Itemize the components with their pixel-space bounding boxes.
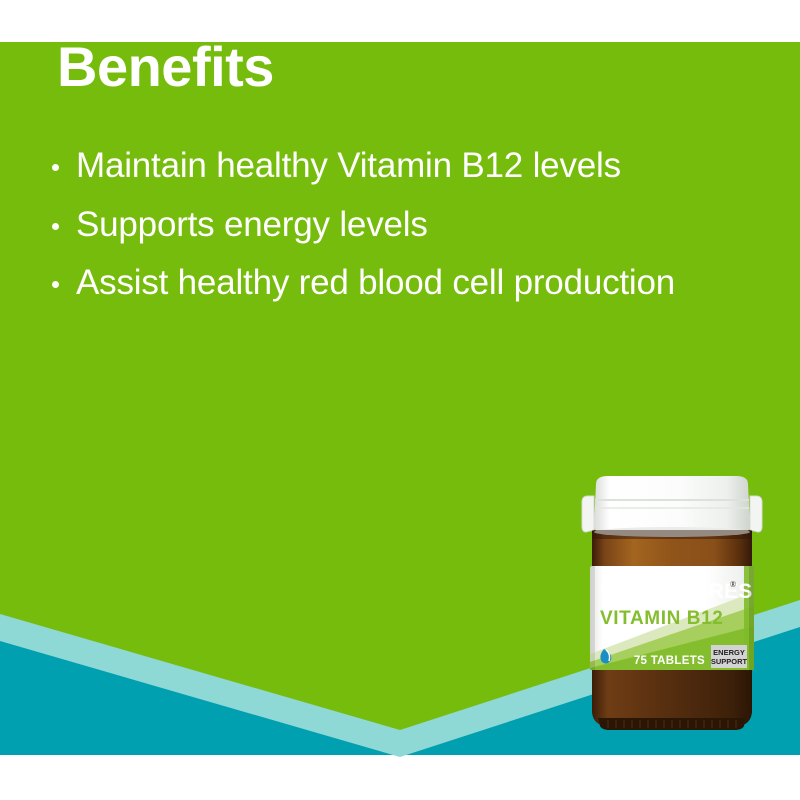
bottle-base xyxy=(592,664,752,727)
list-item: Supports energy levels xyxy=(46,205,706,246)
label-badge-line1: ENERGY xyxy=(713,648,745,657)
bottle-neck-shadow xyxy=(592,530,752,539)
bottle-cap xyxy=(594,476,750,535)
bottle-illustration: BLACKMORES ® VITAMIN B12 75 TABLETS ENER… xyxy=(578,474,766,740)
bullet-icon xyxy=(52,164,59,171)
label-brand-trademark: ® xyxy=(730,580,736,589)
label-badge-line2: SUPPORT xyxy=(711,657,748,666)
list-item: Maintain healthy Vitamin B12 levels xyxy=(46,146,706,187)
product-image-blackmores-vitamin-b12: BLACKMORES ® VITAMIN B12 75 TABLETS ENER… xyxy=(578,474,766,740)
label-left-shade xyxy=(590,566,595,670)
product-benefits-banner: Benefits Maintain healthy Vitamin B12 le… xyxy=(0,0,800,800)
label-right-shade xyxy=(749,566,754,670)
cap-tamper-tab-right xyxy=(750,496,762,532)
bullet-icon xyxy=(52,223,59,230)
list-item-label: Supports energy levels xyxy=(76,205,428,244)
label-tablet-count: 75 TABLETS xyxy=(634,655,705,667)
list-item-label: Maintain healthy Vitamin B12 levels xyxy=(76,146,621,185)
list-item-label: Assist healthy red blood cell production xyxy=(76,263,675,302)
bullet-icon xyxy=(52,281,59,288)
benefits-list: Maintain healthy Vitamin B12 levels Supp… xyxy=(46,146,706,304)
page-title: Benefits xyxy=(57,36,274,99)
list-item: Assist healthy red blood cell production xyxy=(46,263,706,304)
label-product-name: VITAMIN B12 xyxy=(600,608,723,629)
cap-tamper-tab-left xyxy=(582,496,594,532)
